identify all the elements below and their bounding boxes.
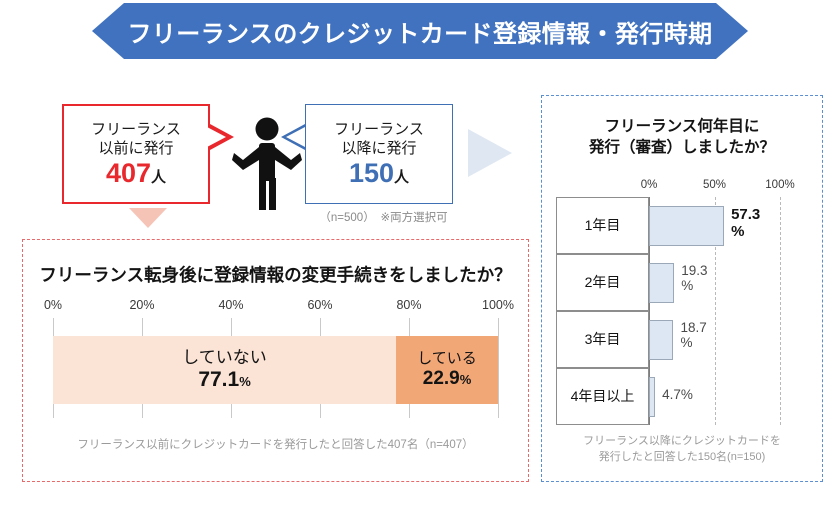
- change-segment-label: している: [417, 350, 477, 368]
- change-xtick-label: 80%: [396, 298, 421, 312]
- years-bar: [649, 377, 655, 417]
- years-bar-value: 4.7%: [662, 388, 693, 403]
- change-xtick-label: 60%: [307, 298, 332, 312]
- years-category-label: 3年目: [556, 311, 649, 368]
- callout-before-freelance: フリーランス 以前に発行 407人: [62, 104, 210, 204]
- panel-years-title-line1: フリーランス何年目に: [542, 117, 822, 138]
- callout-before-value: 407: [106, 158, 151, 188]
- years-category-label: 1年目: [556, 197, 649, 254]
- change-bar-segment: している22.9%: [396, 336, 498, 404]
- years-bar-value: 18.7%: [680, 321, 706, 351]
- panel-change-title: フリーランス転身後に登録情報の変更手続きをしましたか？: [23, 262, 528, 287]
- callout-after-unit: 人: [394, 169, 409, 186]
- years-bar: [649, 206, 724, 246]
- down-arrow-icon: [129, 208, 167, 228]
- callout-before-value-wrap: 407人: [106, 160, 166, 187]
- callout-after-value: 150: [349, 158, 394, 188]
- years-xtick-label: 0%: [641, 179, 658, 191]
- panel-years-title-line2: 発行（審査）しましたか？: [542, 138, 822, 159]
- callout-before-line2: 以前に発行: [98, 140, 173, 159]
- panel-years-footnote: フリーランス以降にクレジットカードを 発行したと回答した150名(n=150): [542, 434, 822, 466]
- panel-years-footnote-line1: フリーランス以降にクレジットカードを: [542, 434, 822, 450]
- change-xtick-label: 0%: [44, 298, 62, 312]
- infographic-canvas: フリーランスのクレジットカード登録情報・発行時期 フリーランス 以前に発行 40…: [0, 0, 840, 515]
- years-category-label: 2年目: [556, 254, 649, 311]
- years-gridline: [780, 197, 782, 425]
- panel-years-issued: フリーランス何年目に 発行（審査）しましたか？ 0%50%100%1年目57.3…: [541, 95, 823, 482]
- person-shrug-icon: [231, 116, 303, 210]
- callout-before-unit: 人: [151, 169, 166, 186]
- callout-before-line1: フリーランス: [91, 121, 181, 140]
- panel-years-title: フリーランス何年目に 発行（審査）しましたか？: [542, 117, 822, 159]
- years-bar: [649, 320, 673, 360]
- callout-after-line1: フリーランス: [334, 121, 424, 140]
- page-title-banner: フリーランスのクレジットカード登録情報・発行時期: [92, 3, 748, 59]
- change-xtick-label: 100%: [482, 298, 514, 312]
- years-bar: [649, 263, 674, 303]
- callout-before-tail-fill: [207, 127, 226, 147]
- change-stacked-bar: していない77.1%している22.9%: [53, 336, 498, 404]
- panel-years-footnote-line2: 発行したと回答した150名(n=150): [542, 450, 822, 466]
- years-category-label: 4年目以上: [556, 368, 649, 425]
- years-bar-value: 19.3%: [681, 264, 707, 294]
- page-title: フリーランスのクレジットカード登録情報・発行時期: [127, 14, 712, 49]
- years-xtick-label: 100%: [765, 179, 794, 191]
- change-xtick-label: 40%: [218, 298, 243, 312]
- change-bar-segment: していない77.1%: [53, 336, 396, 404]
- change-segment-value: 77.1%: [198, 368, 250, 392]
- callout-after-line2: 以降に発行: [341, 140, 416, 159]
- sample-size-note: （n=500） ※両方選択可: [296, 209, 471, 225]
- callout-after-value-wrap: 150人: [349, 160, 409, 187]
- change-segment-value: 22.9%: [423, 368, 472, 390]
- panel-change-procedure: フリーランス転身後に登録情報の変更手続きをしましたか？ 0%20%40%60%8…: [22, 239, 529, 482]
- years-bar-chart: 0%50%100%1年目57.3%2年目19.3%3年目18.7%4年目以上4.…: [556, 179, 810, 429]
- years-xtick-label: 50%: [703, 179, 726, 191]
- panel-change-footnote: フリーランス以前にクレジットカードを発行したと回答した407名（n=407）: [23, 436, 528, 452]
- right-arrow-icon: [468, 129, 512, 177]
- change-segment-label: していない: [182, 348, 267, 368]
- change-gridline: [498, 318, 499, 418]
- callout-after-freelance: フリーランス 以降に発行 150人: [305, 104, 453, 204]
- change-xtick-label: 20%: [129, 298, 154, 312]
- years-bar-value: 57.3%: [731, 207, 760, 240]
